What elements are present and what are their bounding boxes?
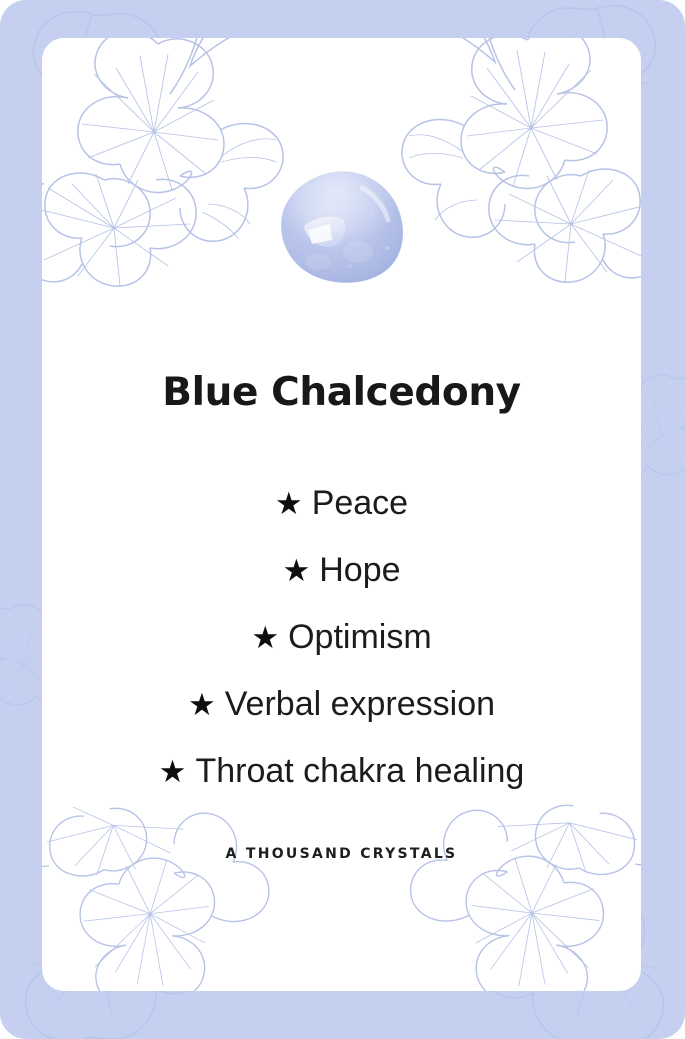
list-item-label: Peace (312, 470, 408, 536)
brand-footer: A THOUSAND CRYSTALS (42, 846, 641, 862)
star-icon: ★ (159, 739, 187, 805)
blue-chalcedony-stone-image (274, 168, 410, 286)
star-icon: ★ (275, 471, 303, 537)
attribute-list: ★Peace ★Hope ★Optimism ★Verbal expressio… (42, 470, 641, 805)
list-item: ★Verbal expression (42, 671, 641, 738)
list-item-label: Optimism (288, 604, 432, 670)
list-item: ★Throat chakra healing (42, 738, 641, 805)
list-item: ★Optimism (42, 604, 641, 671)
star-icon: ★ (251, 605, 279, 671)
page-title: Blue Chalcedony (42, 370, 641, 415)
star-icon: ★ (282, 538, 310, 604)
list-item-label: Throat chakra healing (195, 738, 524, 804)
list-item: ★Hope (42, 537, 641, 604)
crystal-image-wrap (42, 168, 641, 286)
star-icon: ★ (188, 672, 216, 738)
list-item: ★Peace (42, 470, 641, 537)
info-card: Blue Chalcedony ★Peace ★Hope ★Optimism ★… (42, 38, 641, 991)
list-item-label: Verbal expression (225, 671, 495, 737)
crystal-info-poster: Blue Chalcedony ★Peace ★Hope ★Optimism ★… (0, 0, 685, 1039)
list-item-label: Hope (319, 537, 400, 603)
